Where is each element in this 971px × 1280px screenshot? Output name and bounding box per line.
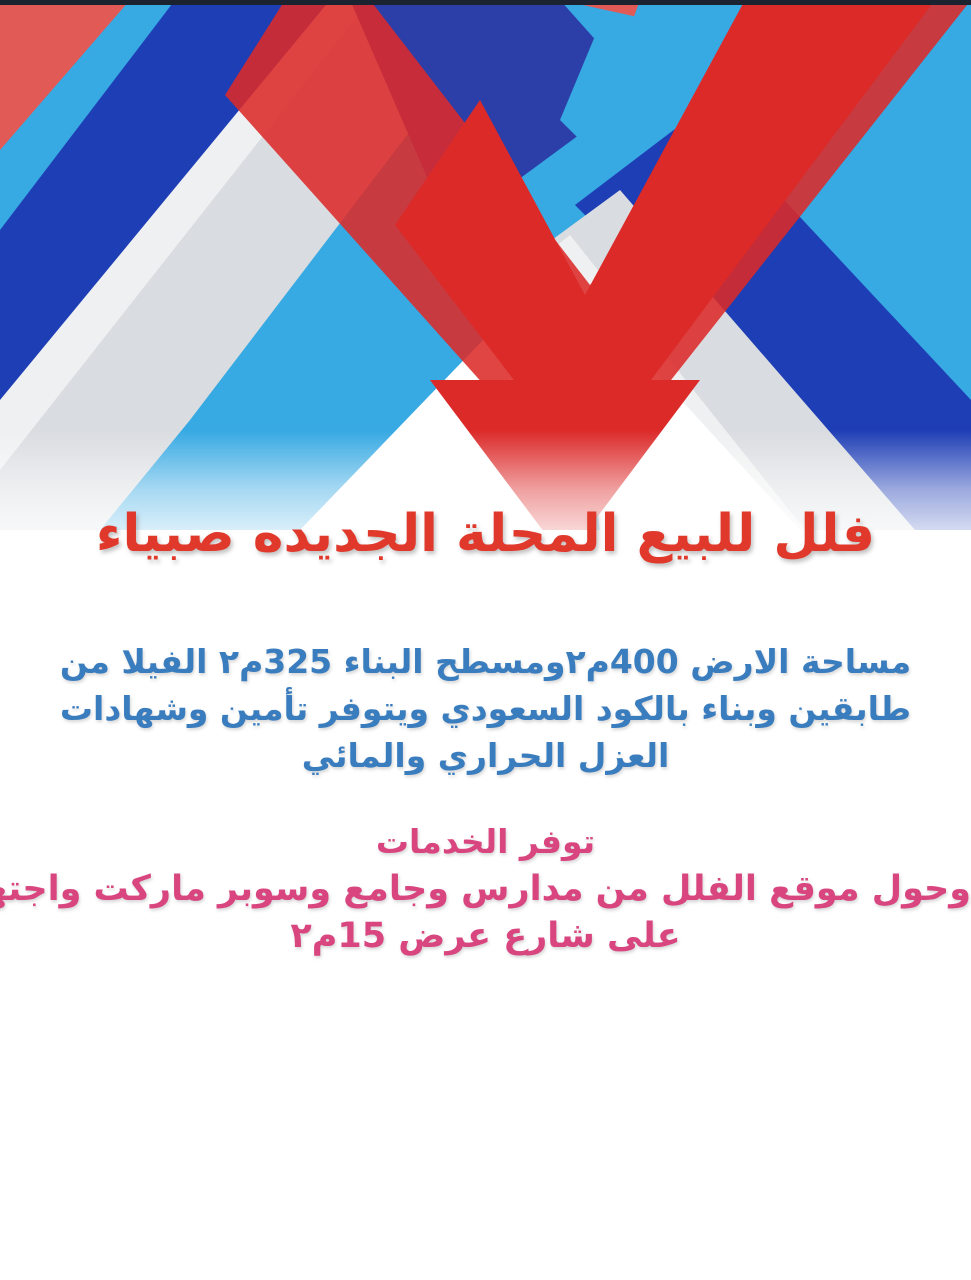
spacer-title-body [0,565,971,639]
top-dark-strip [0,0,971,5]
content-area: فلل للبيع المحلة الجديده صبياء مساحة الا… [0,505,971,960]
services-line-1: وحول موقع الفلل من مدارس وجامع وسوبر مار… [0,866,971,913]
services-line-2: على شارع عرض 15م٢ [0,913,971,960]
property-details: مساحة الارض 400م٢ومسطح البناء 325م٢ الفي… [52,639,919,780]
property-details-line-1: مساحة الارض 400م٢ومسطح البناء 325م٢ الفي… [60,642,911,681]
abstract-chevron-svg [0,0,971,530]
spacer-body-services [0,779,971,821]
services-details: وحول موقع الفلل من مدارس وجامع وسوبر مار… [0,866,971,960]
services-heading: توفر الخدمات [0,821,971,864]
property-details-line-3: الحراري والمائي [302,736,567,775]
flyer-poster: فلل للبيع المحلة الجديده صبياء مساحة الا… [0,0,971,1280]
page-title: فلل للبيع المحلة الجديده صبياء [18,505,953,565]
header-graphic [0,0,971,530]
